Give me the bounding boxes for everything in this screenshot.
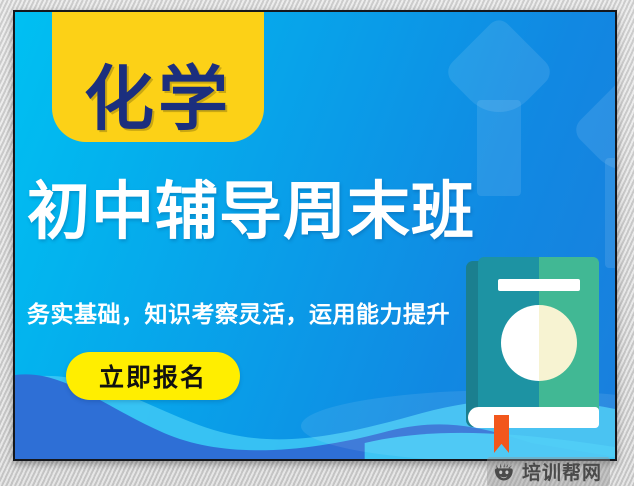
watermark: 培训帮网: [487, 457, 610, 486]
book-illustration: [466, 257, 599, 437]
enroll-now-button[interactable]: 立即报名: [66, 352, 240, 400]
book-title-band: [498, 279, 580, 291]
subject-badge-label: 化学: [84, 64, 232, 134]
book-pages: [468, 407, 599, 428]
enroll-now-button-label: 立即报名: [99, 358, 207, 394]
banner-subtitle: 务实基础，知识考察灵活，运用能力提升: [27, 295, 450, 329]
sun-face-icon: [493, 462, 515, 482]
up-arrow-icon: [447, 26, 551, 194]
subject-badge: 化学: [52, 10, 264, 142]
watermark-label: 培训帮网: [522, 458, 602, 485]
course-promo-banner[interactable]: 化学 初中辅导周末班 务实基础，知识考察灵活，运用能力提升 立即报名: [13, 10, 617, 461]
banner-headline: 初中辅导周末班: [27, 180, 617, 244]
